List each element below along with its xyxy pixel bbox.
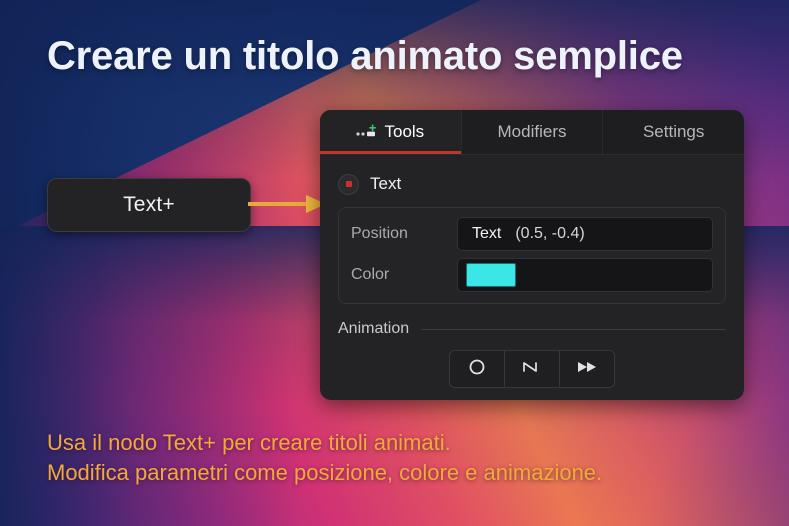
record-dot-icon [338, 174, 359, 195]
position-value-coords: (0.5, -0.4) [515, 225, 584, 243]
tab-settings-label: Settings [643, 122, 704, 142]
param-row-position: Position Text (0.5, -0.4) [351, 217, 713, 251]
inspector-panel: Tools Modifiers Settings Text Position T… [320, 110, 744, 400]
animation-button-group [449, 350, 615, 388]
animation-title: Animation [338, 320, 409, 338]
tool-row-text[interactable]: Text [338, 161, 726, 207]
panel-body: Text Position Text (0.5, -0.4) Color [320, 161, 744, 388]
tab-tools[interactable]: Tools [320, 110, 462, 154]
tab-modifiers-label: Modifiers [498, 122, 567, 142]
caption: Usa il nodo Text+ per creare titoli anim… [47, 428, 747, 488]
spline-curve-icon [520, 357, 544, 382]
animation-divider [421, 329, 726, 330]
spline-button[interactable] [505, 351, 560, 387]
node-text-plus[interactable]: Text+ [47, 178, 251, 232]
keyframe-button[interactable] [450, 351, 505, 387]
color-swatch[interactable] [466, 263, 516, 287]
position-field[interactable]: Text (0.5, -0.4) [457, 217, 713, 251]
node-add-icon [356, 124, 378, 140]
caption-line-1: Usa il nodo Text+ per creare titoli anim… [47, 428, 747, 458]
page-title: Creare un titolo animato semplice [47, 33, 683, 79]
arrow-right-icon [248, 192, 326, 216]
play-button[interactable] [560, 351, 614, 387]
animation-section-header: Animation [338, 320, 726, 338]
tool-row-label: Text [370, 174, 401, 194]
param-row-color: Color [351, 258, 713, 292]
position-value-name: Text [472, 225, 501, 243]
tab-settings[interactable]: Settings [603, 110, 744, 154]
panel-tabbar: Tools Modifiers Settings [320, 110, 744, 155]
caption-line-2: Modifica parametri come posizione, color… [47, 458, 747, 488]
parameter-group: Position Text (0.5, -0.4) Color [338, 207, 726, 304]
circle-keyframe-icon [467, 357, 487, 382]
node-label: Text+ [123, 193, 175, 217]
tab-modifiers[interactable]: Modifiers [462, 110, 604, 154]
fast-forward-icon [574, 358, 600, 381]
slide-canvas: Creare un titolo animato semplice Text+ … [0, 0, 789, 526]
tab-tools-label: Tools [384, 122, 424, 142]
param-label-position: Position [351, 225, 457, 243]
color-field[interactable] [457, 258, 713, 292]
param-label-color: Color [351, 266, 457, 284]
